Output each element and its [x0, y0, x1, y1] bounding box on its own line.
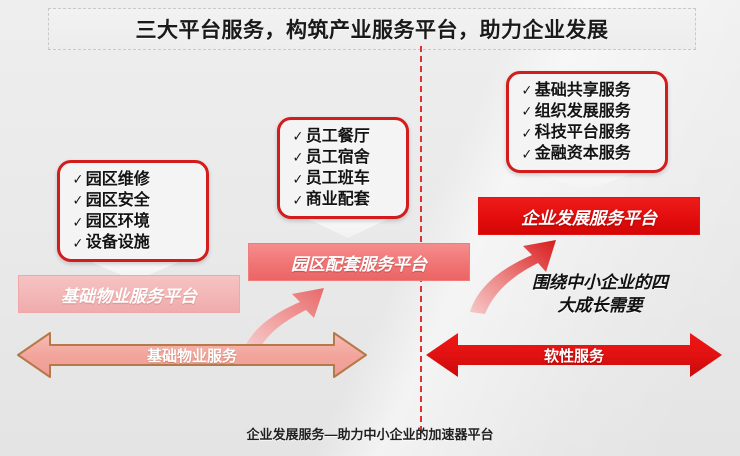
enterprise-development-items-box: ✓基础共享服务 ✓组织发展服务 ✓科技平台服务 ✓金融资本服务: [506, 71, 668, 173]
check-icon: ✓: [293, 148, 304, 166]
list-item: ✓员工宿舍: [292, 147, 396, 168]
list-item-label: 设备设施: [86, 232, 150, 253]
list-item-label: 商业配套: [306, 189, 370, 210]
list-item: ✓金融资本服务: [521, 143, 655, 164]
slide-title-band: 三大平台服务，构筑产业服务平台，助力企业发展: [48, 8, 696, 50]
check-icon: ✓: [293, 127, 304, 145]
list-item: ✓设备设施: [72, 232, 196, 253]
list-item: ✓园区维修: [72, 169, 196, 190]
list-item-label: 园区安全: [86, 190, 150, 211]
list-item: ✓园区安全: [72, 190, 196, 211]
check-icon: ✓: [73, 170, 84, 188]
check-icon: ✓: [73, 213, 84, 231]
callout-line-1: 围绕中小企业的四: [505, 272, 695, 295]
list-item-label: 组织发展服务: [535, 101, 631, 122]
list-item-label: 员工宿舍: [306, 147, 370, 168]
list-item: ✓基础共享服务: [521, 80, 655, 101]
list-item: ✓园区环境: [72, 211, 196, 232]
growth-needs-callout: 围绕中小企业的四 大成长需要: [505, 272, 695, 318]
list-item: ✓科技平台服务: [521, 122, 655, 143]
park-support-items-box: ✓员工餐厅 ✓员工宿舍 ✓员工班车 ✓商业配套: [277, 117, 409, 219]
check-icon: ✓: [73, 191, 84, 209]
check-icon: ✓: [522, 102, 533, 120]
vertical-dashed-divider: [420, 46, 422, 432]
double-arrow-shape-left: [16, 331, 368, 379]
check-icon: ✓: [73, 234, 84, 252]
check-icon: ✓: [293, 170, 304, 188]
basic-property-service-arrow: 基础物业服务: [16, 331, 368, 379]
check-icon: ✓: [522, 81, 533, 99]
list-item: ✓商业配套: [292, 189, 396, 210]
list-item-label: 科技平台服务: [535, 122, 631, 143]
check-icon: ✓: [522, 124, 533, 142]
basic-property-platform-bar: 基础物业服务平台: [18, 275, 240, 313]
slide-canvas: 三大平台服务，构筑产业服务平台，助力企业发展 ✓园区维修 ✓园区安全 ✓园区环境…: [0, 0, 740, 456]
basic-property-items-box: ✓园区维修 ✓园区安全 ✓园区环境 ✓设备设施: [57, 160, 209, 262]
list-item-label: 基础共享服务: [535, 80, 631, 101]
list-item: ✓员工班车: [292, 168, 396, 189]
check-icon: ✓: [522, 145, 533, 163]
callout-line-2: 大成长需要: [505, 295, 695, 318]
check-icon: ✓: [293, 191, 304, 209]
list-item-label: 员工餐厅: [306, 126, 370, 147]
list-item-label: 员工班车: [306, 168, 370, 189]
list-item-label: 金融资本服务: [535, 143, 631, 164]
soft-service-arrow: 软性服务: [424, 331, 724, 379]
list-item-label: 园区环境: [86, 211, 150, 232]
list-item-label: 园区维修: [86, 169, 150, 190]
slide-caption: 企业发展服务—助力中小企业的加速器平台: [0, 424, 740, 443]
list-item: ✓员工餐厅: [292, 126, 396, 147]
list-item: ✓组织发展服务: [521, 101, 655, 122]
page-title: 三大平台服务，构筑产业服务平台，助力企业发展: [136, 14, 609, 44]
double-arrow-shape-right: [424, 331, 724, 379]
